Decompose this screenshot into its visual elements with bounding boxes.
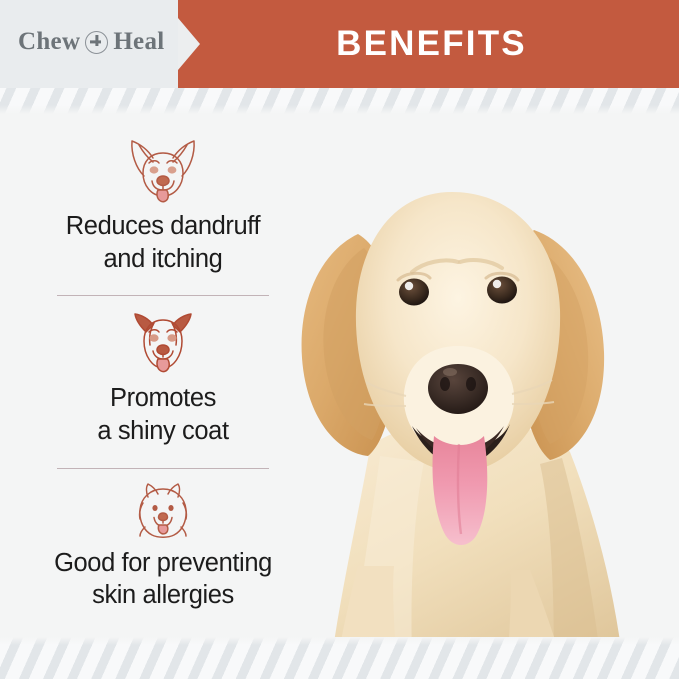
samoyed-dog-face-icon bbox=[18, 483, 308, 541]
brand-logo[interactable]: Chew Heal bbox=[18, 28, 165, 56]
header-bar: BENEFITS Chew Heal bbox=[0, 0, 679, 88]
circled-plus-icon bbox=[85, 31, 108, 54]
decorative-stripes-top bbox=[0, 88, 679, 114]
benefits-list: Reduces dandruff and itching bbox=[8, 130, 318, 612]
page-title: BENEFITS bbox=[178, 0, 679, 88]
benefit-item-1: Reduces dandruff and itching bbox=[8, 130, 318, 275]
benefit-item-3: Good for preventing skin allergies bbox=[8, 483, 318, 612]
benefit-label-3: Good for preventing skin allergies bbox=[18, 547, 308, 612]
benefits-infographic: BENEFITS Chew Heal bbox=[0, 0, 679, 679]
benefit-label-1: Reduces dandruff and itching bbox=[18, 210, 308, 275]
benefit-label-2: Promotes a shiny coat bbox=[18, 382, 308, 447]
logo-word-chew: Chew bbox=[18, 28, 80, 56]
benefits-banner: BENEFITS bbox=[178, 0, 679, 88]
corgi-dog-face-icon bbox=[18, 130, 308, 204]
decorative-stripes-bottom bbox=[0, 637, 679, 679]
terrier-dog-face-icon bbox=[18, 310, 308, 376]
benefit-divider-2 bbox=[57, 468, 269, 469]
benefit-item-2: Promotes a shiny coat bbox=[8, 310, 318, 447]
benefit-divider-1 bbox=[57, 295, 269, 296]
logo-word-heal: Heal bbox=[113, 28, 164, 56]
